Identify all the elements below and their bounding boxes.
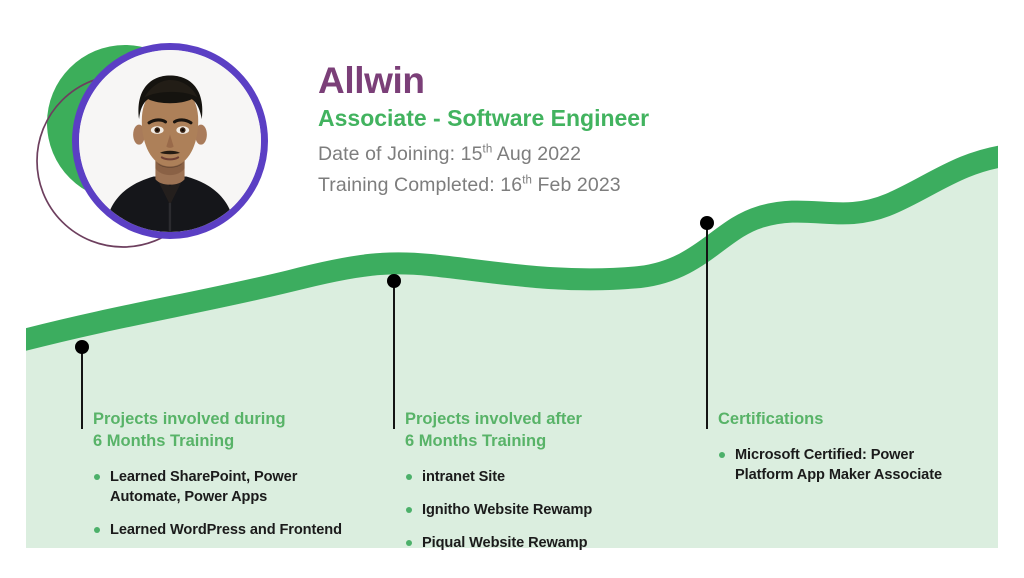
joining-date-day: 15 — [461, 143, 483, 165]
bullet-dot-icon — [406, 540, 412, 546]
marker-stem — [393, 281, 395, 429]
bullet-dot-icon — [406, 507, 412, 513]
list-item: intranet Site — [405, 467, 655, 487]
column-title: Projects involved during 6 Months Traini… — [93, 409, 343, 453]
infographic-canvas: Allwin Associate - Software Engineer Dat… — [0, 0, 1024, 578]
bullet-dot-icon — [94, 527, 100, 533]
column-certifications: Certifications Microsoft Certified: Powe… — [718, 409, 978, 485]
list-item-label: Microsoft Certified: Power Platform App … — [735, 447, 942, 483]
training-date-ordinal: th — [522, 174, 532, 186]
marker-dot — [387, 274, 401, 288]
profile-photo-frame — [72, 43, 268, 239]
marker-stem — [706, 223, 708, 429]
bullet-dot-icon — [719, 452, 725, 458]
column-projects-during-training: Projects involved during 6 Months Traini… — [93, 409, 343, 540]
list-item-label: Ignitho Website Rewamp — [422, 502, 592, 518]
joining-date-label: Date of Joining: — [318, 143, 455, 165]
marker-dot — [700, 216, 714, 230]
column-title: Projects involved after 6 Months Trainin… — [405, 409, 655, 453]
list-item: Learned WordPress and Frontend — [93, 520, 343, 540]
list-item-label: Learned WordPress and Frontend — [110, 522, 342, 538]
column-bullet-list: Microsoft Certified: Power Platform App … — [718, 445, 978, 485]
training-date-label: Training Completed: — [318, 174, 495, 196]
header-block: Allwin Associate - Software Engineer Dat… — [318, 62, 938, 200]
column-title: Certifications — [718, 409, 978, 431]
marker-stem — [81, 347, 83, 429]
list-item-label: Piqual Website Rewamp — [422, 535, 588, 551]
joining-date-ordinal: th — [483, 144, 493, 156]
portrait-photo — [79, 50, 261, 232]
list-item: Learned SharePoint, Power Automate, Powe… — [93, 467, 343, 507]
person-role: Associate - Software Engineer — [318, 105, 938, 133]
list-item: Microsoft Certified: Power Platform App … — [718, 445, 978, 485]
column-projects-after-training: Projects involved after 6 Months Trainin… — [405, 409, 655, 553]
column-bullet-list: intranet Site Ignitho Website Rewamp Piq… — [405, 467, 655, 553]
column-bullet-list: Learned SharePoint, Power Automate, Powe… — [93, 467, 343, 540]
training-date-day: 16 — [500, 174, 522, 196]
list-item: Piqual Website Rewamp — [405, 533, 655, 553]
training-date-rest: Feb 2023 — [538, 174, 621, 196]
avatar — [18, 18, 288, 268]
marker-dot — [75, 340, 89, 354]
bullet-dot-icon — [406, 474, 412, 480]
list-item-label: Learned SharePoint, Power Automate, Powe… — [110, 469, 297, 505]
list-item: Ignitho Website Rewamp — [405, 500, 655, 520]
training-date-line: Training Completed: 16th Feb 2023 — [318, 170, 938, 200]
list-item-label: intranet Site — [422, 469, 505, 485]
bullet-dot-icon — [94, 474, 100, 480]
joining-date-rest: Aug 2022 — [497, 143, 581, 165]
page-title: Allwin — [318, 62, 938, 101]
joining-date-line: Date of Joining: 15th Aug 2022 — [318, 139, 938, 169]
